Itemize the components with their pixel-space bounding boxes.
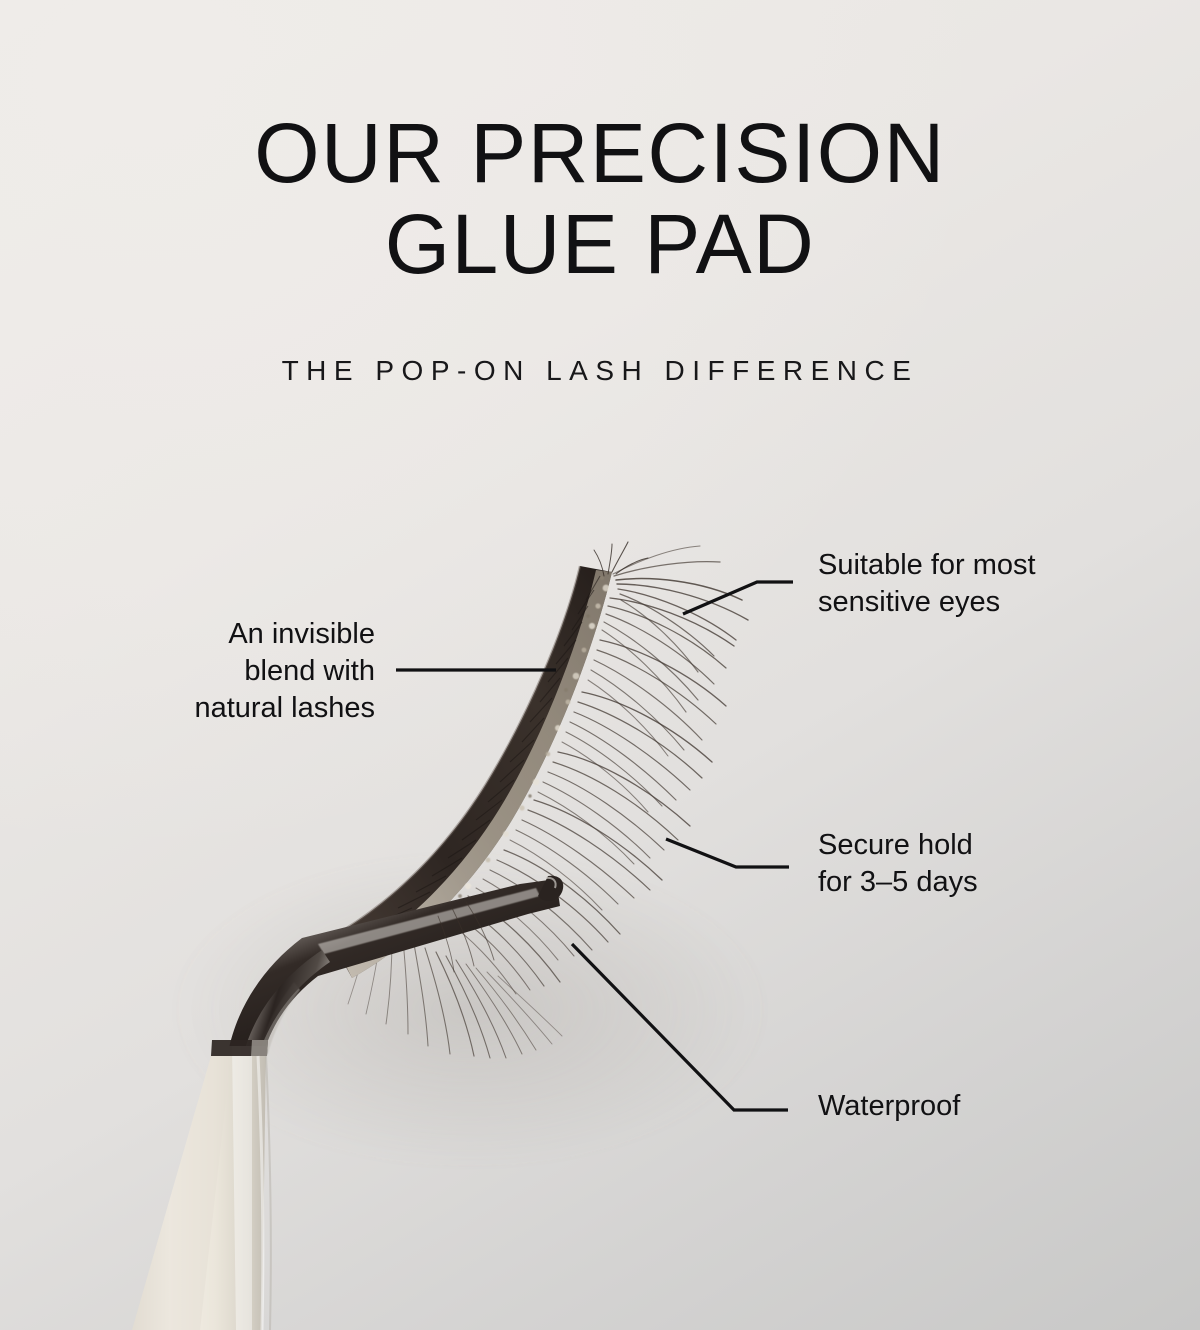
page-subtitle: THE POP-ON LASH DIFFERENCE [0, 355, 1200, 387]
infographic-canvas: OUR PRECISION GLUE PAD THE POP-ON LASH D… [0, 0, 1200, 1330]
tweezer [132, 876, 563, 1330]
leader-line-sensitive [683, 582, 793, 614]
callout-invisible-blend-with-natural-lashes: An invisible blend with natural lashes [90, 616, 375, 727]
callout-suitable-for-most-sensitive-eyes: Suitable for most sensitive eyes [818, 547, 1148, 621]
callout-secure-hold-for-3-5-days: Secure hold for 3–5 days [818, 827, 1118, 901]
lash-hairs-upper [588, 546, 748, 756]
lash-hairs-lower [348, 850, 620, 1058]
page-title: OUR PRECISION GLUE PAD [0, 108, 1200, 289]
leader-line-waterproof [572, 944, 788, 1110]
lash-hairs-mid [510, 692, 712, 910]
callout-waterproof: Waterproof [818, 1088, 1118, 1125]
leader-line-secure [666, 839, 789, 867]
